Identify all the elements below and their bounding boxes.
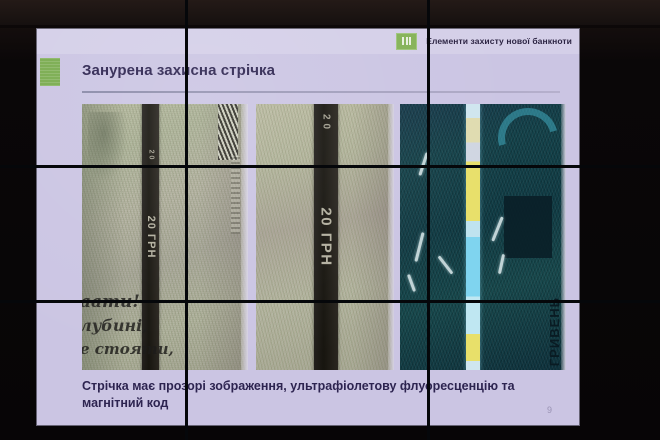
banknote-photo-closeup[interactable]: 20 20 ГРН <box>256 104 394 370</box>
uv-dark-patch <box>504 196 552 258</box>
title-divider <box>82 91 560 93</box>
banknote-photo-visible[interactable]: 20 20 ГРН аати! лубині, е стояти, <box>82 104 248 370</box>
slide-caption: Стрічка має прозорі зображення, ультрафі… <box>82 378 552 412</box>
security-thread-text-closeup: 20 ГРН <box>318 207 335 266</box>
slide-content: Елементи захисту нової банкноти Занурена… <box>36 28 580 426</box>
uv-denomination-text: ГРИВЕНЬ <box>547 297 562 366</box>
slide-title: Занурена захисна стрічка <box>82 62 275 79</box>
uv-edge-highlight <box>561 104 566 370</box>
presentation-slide[interactable]: Елементи захисту нової банкноти Занурена… <box>36 28 580 426</box>
slide-header: Елементи захисту нової банкноти <box>36 28 580 54</box>
security-thread-number: 20 <box>147 150 154 162</box>
banknote-ornament <box>88 112 128 182</box>
banknote-hatch-strip <box>218 104 238 160</box>
security-thread-closeup: 20 20 ГРН <box>314 104 338 370</box>
banknote-photo-uv[interactable]: ГРИВЕНЬ <box>400 104 566 370</box>
panel-group: 20 20 ГРН аати! лубині, е стояти, 20 20 … <box>82 104 566 370</box>
banknote-handwriting-line-3: е стояти, <box>82 340 174 358</box>
security-thread-number-closeup: 20 <box>321 114 332 133</box>
banknote-edge-highlight-closeup <box>388 104 394 370</box>
security-thread-text: 20 ГРН <box>145 216 157 259</box>
slide-page-number: 9 <box>547 405 552 415</box>
slide-header-title: Елементи захисту нової банкноти <box>426 36 572 46</box>
title-accent-chip <box>40 58 60 86</box>
three-bars-icon <box>396 33 417 50</box>
uv-fluorescent-thread <box>466 104 480 370</box>
wall-top-band <box>0 0 660 26</box>
banknote-handwriting-line-1: аати! <box>82 292 140 312</box>
banknote-hatch-strip-lower <box>231 156 240 234</box>
banknote-edge-highlight <box>241 104 248 370</box>
banknote-handwriting-line-2: лубині, <box>82 316 148 335</box>
screenshot-stage: Елементи захисту нової банкноти Занурена… <box>0 0 660 440</box>
